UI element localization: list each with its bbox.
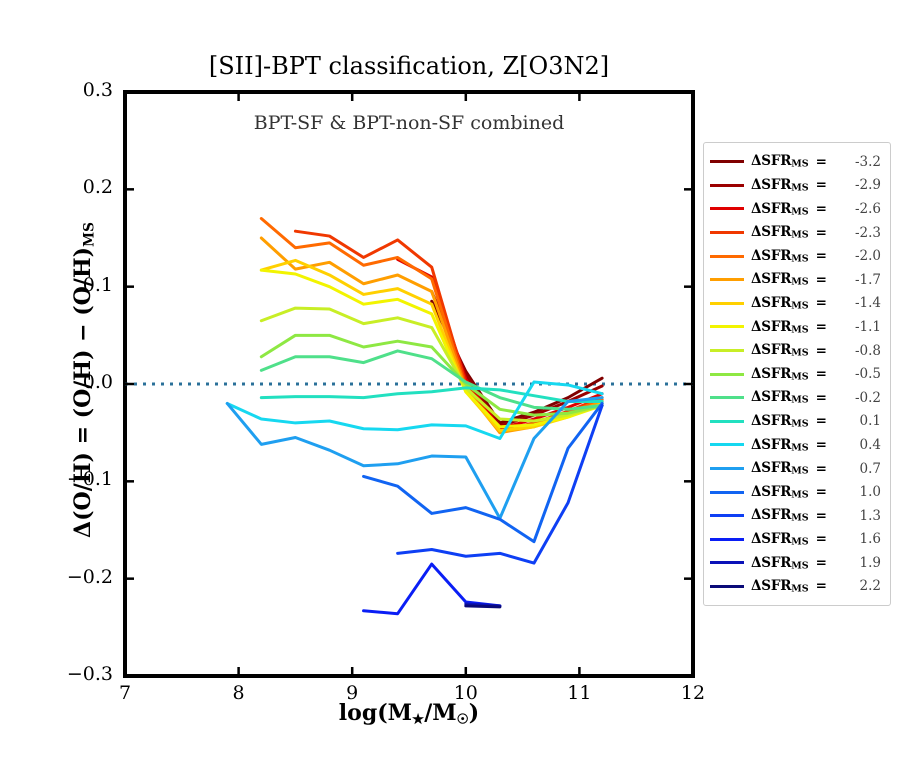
series-line-neg0p5	[261, 335, 602, 415]
legend-item-value: 1.3	[851, 508, 884, 524]
legend-item-value: 0.7	[851, 461, 884, 477]
legend-item-label: ΔSFRMS	[751, 531, 809, 548]
chart-title: [SII]-BPT classification, Z[O3N2]	[125, 52, 693, 80]
legend-item-label: ΔSFRMS	[751, 201, 809, 218]
legend-equals-sign: =	[816, 413, 827, 429]
legend-item-value: -1.4	[851, 295, 884, 311]
legend-color-swatch	[710, 160, 744, 163]
plot-frame	[125, 92, 693, 676]
series-line-0p1	[261, 388, 602, 402]
legend-item-label: ΔSFRMS	[751, 224, 809, 241]
legend-equals-sign: =	[816, 295, 827, 311]
y-tick-label: −0.1	[53, 468, 113, 490]
legend-color-swatch	[710, 278, 744, 281]
legend-item[interactable]: ΔSFRMS=-1.4	[708, 292, 884, 316]
legend-item[interactable]: ΔSFRMS=0.1	[708, 410, 884, 434]
legend-color-swatch	[710, 561, 744, 564]
legend-item-value: 1.6	[851, 531, 884, 547]
legend-item-value: -0.5	[851, 366, 884, 382]
legend-item[interactable]: ΔSFRMS=-2.0	[708, 244, 884, 268]
legend-equals-sign: =	[816, 366, 827, 382]
legend-equals-sign: =	[816, 508, 827, 524]
x-tick-label: 9	[327, 682, 377, 704]
y-tick-label: 0.0	[53, 371, 113, 393]
legend-item[interactable]: ΔSFRMS=-0.5	[708, 362, 884, 386]
legend-item[interactable]: ΔSFRMS=-0.8	[708, 339, 884, 363]
series-line-2p2	[466, 606, 500, 607]
legend-equals-sign: =	[816, 578, 827, 594]
legend-color-swatch	[710, 467, 744, 470]
legend-item[interactable]: ΔSFRMS=-3.2	[708, 150, 884, 174]
legend-equals-sign: =	[816, 225, 827, 241]
legend-color-swatch	[710, 538, 744, 541]
legend-item-label: ΔSFRMS	[751, 366, 809, 383]
legend-item[interactable]: ΔSFRMS=1.3	[708, 504, 884, 528]
legend-color-swatch	[710, 443, 744, 446]
legend-equals-sign: =	[816, 437, 827, 453]
legend-item[interactable]: ΔSFRMS=0.7	[708, 457, 884, 481]
legend-item-value: -2.3	[851, 225, 884, 241]
legend-item[interactable]: ΔSFRMS=1.9	[708, 551, 884, 575]
legend-item-label: ΔSFRMS	[751, 248, 809, 265]
y-tick-label: 0.2	[53, 176, 113, 198]
legend-item-value: 1.0	[851, 484, 884, 500]
legend-item[interactable]: ΔSFRMS=-1.7	[708, 268, 884, 292]
legend-equals-sign: =	[816, 343, 827, 359]
legend-item[interactable]: ΔSFRMS=1.6	[708, 528, 884, 552]
legend-item[interactable]: ΔSFRMS=0.4	[708, 433, 884, 457]
legend-color-swatch	[710, 396, 744, 399]
series-line-neg2p6	[398, 259, 602, 428]
legend-item-value: -1.7	[851, 272, 884, 288]
legend-color-swatch	[710, 585, 744, 588]
legend-item[interactable]: ΔSFRMS=-2.6	[708, 197, 884, 221]
y-tick-label: 0.1	[53, 274, 113, 296]
legend-color-swatch	[710, 255, 744, 258]
legend-item[interactable]: ΔSFRMS=1.0	[708, 480, 884, 504]
legend-item-label: ΔSFRMS	[751, 460, 809, 477]
legend-item[interactable]: ΔSFRMS=2.2	[708, 575, 884, 599]
legend-item-value: -2.9	[851, 177, 884, 193]
legend-item-value: -2.6	[851, 201, 884, 217]
legend-item-value: 0.1	[851, 413, 884, 429]
legend-item-label: ΔSFRMS	[751, 578, 809, 595]
series-line-neg0p2	[261, 351, 602, 409]
legend-equals-sign: =	[816, 531, 827, 547]
chart-subtitle: BPT-SF & BPT-non-SF combined	[125, 112, 693, 134]
legend: ΔSFRMS=-3.2ΔSFRMS=-2.9ΔSFRMS=-2.6ΔSFRMS=…	[703, 142, 891, 606]
x-tick-label: 8	[214, 682, 264, 704]
legend-item-label: ΔSFRMS	[751, 389, 809, 406]
legend-item-value: -0.8	[851, 343, 884, 359]
legend-item-label: ΔSFRMS	[751, 437, 809, 454]
legend-equals-sign: =	[816, 555, 827, 571]
legend-equals-sign: =	[816, 177, 827, 193]
legend-equals-sign: =	[816, 319, 827, 335]
legend-color-swatch	[710, 373, 744, 376]
figure-container: [SII]-BPT classification, Z[O3N2] BPT-SF…	[0, 0, 900, 760]
legend-color-swatch	[710, 491, 744, 494]
legend-equals-sign: =	[816, 272, 827, 288]
legend-item-value: -2.0	[851, 248, 884, 264]
y-tick-label: 0.3	[53, 79, 113, 101]
legend-item-label: ΔSFRMS	[751, 484, 809, 501]
legend-equals-sign: =	[816, 484, 827, 500]
legend-item-label: ΔSFRMS	[751, 271, 809, 288]
legend-item[interactable]: ΔSFRMS=-2.9	[708, 174, 884, 198]
legend-item-label: ΔSFRMS	[751, 153, 809, 170]
x-tick-label: 10	[441, 682, 491, 704]
legend-item-label: ΔSFRMS	[751, 295, 809, 312]
y-tick-label: −0.2	[53, 566, 113, 588]
x-tick-label: 11	[554, 682, 604, 704]
legend-item-value: 2.2	[851, 578, 884, 594]
legend-equals-sign: =	[816, 154, 827, 170]
legend-item-label: ΔSFRMS	[751, 555, 809, 572]
legend-item-label: ΔSFRMS	[751, 319, 809, 336]
x-tick-label: 7	[100, 682, 150, 704]
legend-equals-sign: =	[816, 248, 827, 264]
legend-item-label: ΔSFRMS	[751, 177, 809, 194]
legend-color-swatch	[710, 514, 744, 517]
legend-item-value: 0.4	[851, 437, 884, 453]
legend-equals-sign: =	[816, 390, 827, 406]
legend-color-swatch	[710, 349, 744, 352]
x-axis-label: log(M★/M☉)	[125, 700, 693, 727]
legend-color-swatch	[710, 302, 744, 305]
legend-color-swatch	[710, 325, 744, 328]
x-tick-label: 12	[668, 682, 718, 704]
series-line-1p0	[364, 403, 603, 541]
series-line-neg2p0	[261, 219, 602, 433]
legend-color-swatch	[710, 207, 744, 210]
legend-item[interactable]: ΔSFRMS=-0.2	[708, 386, 884, 410]
legend-item-value: -3.2	[851, 154, 884, 170]
legend-equals-sign: =	[816, 201, 827, 217]
legend-color-swatch	[710, 184, 744, 187]
legend-item-value: 1.9	[851, 555, 884, 571]
legend-equals-sign: =	[816, 461, 827, 477]
legend-item-label: ΔSFRMS	[751, 507, 809, 524]
legend-item-value: -1.1	[851, 319, 884, 335]
legend-item-label: ΔSFRMS	[751, 342, 809, 359]
legend-item[interactable]: ΔSFRMS=-1.1	[708, 315, 884, 339]
legend-item-label: ΔSFRMS	[751, 413, 809, 430]
legend-item[interactable]: ΔSFRMS=-2.3	[708, 221, 884, 245]
legend-color-swatch	[710, 420, 744, 423]
legend-item-value: -0.2	[851, 390, 884, 406]
legend-color-swatch	[710, 231, 744, 234]
